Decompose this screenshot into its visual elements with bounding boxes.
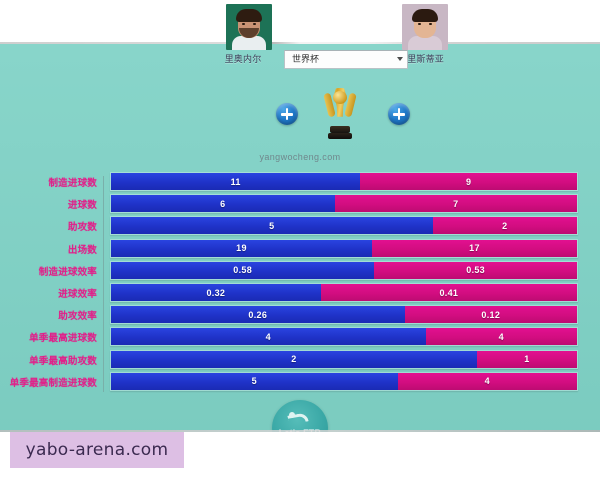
chart-bar-segment-right: 4 <box>426 328 577 345</box>
chart-row: 单季最高制造进球数54 <box>0 372 600 391</box>
chart-row-label: 单季最高制造进球数 <box>0 375 97 389</box>
chart-row-bar: 0.260.12 <box>110 305 578 324</box>
right-player-jersey <box>408 36 442 50</box>
chart-row-label: 助攻效率 <box>0 308 97 322</box>
chart-row: 制造进球效率0.580.53 <box>0 261 600 280</box>
chart-row-label: 进球效率 <box>0 286 97 300</box>
chart-row-bar: 54 <box>110 372 578 391</box>
trophy-base-upper <box>330 126 350 133</box>
left-player-hair <box>236 9 262 22</box>
chart-row-label: 助攻数 <box>0 219 97 233</box>
right-player-card[interactable]: 克里斯蒂亚 <box>402 4 448 65</box>
chart-row: 助攻数52 <box>0 216 600 235</box>
chart-row-bar: 119 <box>110 172 578 191</box>
right-player-face <box>414 12 436 38</box>
left-player-name: 里奥内尔 <box>220 52 266 65</box>
chart-bar-segment-left: 19 <box>111 240 372 257</box>
chart-row: 助攻效率0.260.12 <box>0 305 600 324</box>
chart-row-label: 单季最高进球数 <box>0 330 97 344</box>
comparison-bar-chart: 制造进球数119进球数67助攻数52出场数1917制造进球效率0.580.53进… <box>0 172 600 397</box>
plus-icon-vertical <box>398 108 401 120</box>
app-root: 里奥内尔 克里斯蒂亚 世界杯 <box>0 0 600 480</box>
chart-bar-segment-left: 2 <box>111 351 477 368</box>
add-left-player-button[interactable] <box>276 103 298 125</box>
chart-bar-segment-right: 0.12 <box>405 306 577 323</box>
chart-row: 进球数67 <box>0 194 600 213</box>
left-player-eye-left <box>242 23 245 25</box>
world-cup-trophy-icon <box>322 88 358 146</box>
chart-row-bar: 52 <box>110 216 578 235</box>
chart-bar-segment-left: 6 <box>111 195 335 212</box>
chart-bar-segment-left: 4 <box>111 328 426 345</box>
chart-row-label: 制造进球效率 <box>0 264 97 278</box>
swoosh-icon <box>288 412 310 426</box>
swoosh-arc <box>287 412 308 424</box>
right-player-eye-right <box>429 23 432 25</box>
chart-row-bar: 0.580.53 <box>110 261 578 280</box>
competition-select[interactable]: 世界杯 <box>284 50 408 69</box>
chart-bar-segment-left: 0.26 <box>111 306 405 323</box>
right-player-head <box>414 12 436 38</box>
chart-bar-segment-right: 4 <box>398 373 577 390</box>
chart-bar-segment-left: 0.32 <box>111 284 321 301</box>
plus-icon-vertical <box>286 108 289 120</box>
left-player-beard <box>239 28 259 38</box>
chart-row-bar: 44 <box>110 327 578 346</box>
yabo-watermark-box: yabo-arena.com <box>10 432 184 468</box>
chart-row-label: 出场数 <box>0 242 97 256</box>
chart-bar-segment-right: 1 <box>477 351 577 368</box>
chart-bar-segment-right: 9 <box>360 173 577 190</box>
chart-row-bar: 1917 <box>110 239 578 258</box>
add-right-player-button[interactable] <box>388 103 410 125</box>
left-player-avatar[interactable] <box>226 4 272 50</box>
chart-row-bar: 21 <box>110 350 578 369</box>
chart-bar-segment-left: 11 <box>111 173 360 190</box>
chart-row-label: 制造进球数 <box>0 175 97 189</box>
chart-bar-segment-left: 5 <box>111 373 398 390</box>
right-player-eye-left <box>418 23 421 25</box>
site-watermark: yangwocheng.com <box>0 152 600 162</box>
left-player-eye-right <box>253 23 256 25</box>
trophy-base-lower <box>328 133 352 139</box>
left-player-head <box>238 12 260 38</box>
chart-bar-segment-left: 5 <box>111 217 433 234</box>
chart-row-label: 进球数 <box>0 197 97 211</box>
chart-bar-segment-right: 2 <box>433 217 577 234</box>
chart-bar-segment-right: 7 <box>335 195 577 212</box>
right-player-avatar[interactable] <box>402 4 448 50</box>
competition-select-wrapper[interactable]: 世界杯 <box>284 50 408 69</box>
chart-row: 单季最高进球数44 <box>0 327 600 346</box>
chart-row: 进球效率0.320.41 <box>0 283 600 302</box>
yabo-watermark-text: yabo-arena.com <box>26 440 169 460</box>
chart-row-bar: 67 <box>110 194 578 213</box>
chart-row: 制造进球数119 <box>0 172 600 191</box>
chart-bar-segment-right: 17 <box>372 240 577 257</box>
left-player-face <box>238 12 260 38</box>
chart-bar-segment-right: 0.41 <box>321 284 577 301</box>
chart-bar-segment-right: 0.53 <box>374 262 577 279</box>
comparison-header: 里奥内尔 克里斯蒂亚 世界杯 <box>0 0 600 122</box>
chart-row-bar: 0.320.41 <box>110 283 578 302</box>
chart-row-label: 单季最高助攻数 <box>0 353 97 367</box>
trophy-globe <box>333 91 347 104</box>
right-player-hair <box>412 9 438 22</box>
chart-row: 出场数1917 <box>0 239 600 258</box>
left-player-card[interactable]: 里奥内尔 <box>226 4 272 65</box>
chart-bar-segment-left: 0.58 <box>111 262 374 279</box>
left-player-jersey <box>232 36 266 50</box>
chart-row: 单季最高助攻数21 <box>0 350 600 369</box>
